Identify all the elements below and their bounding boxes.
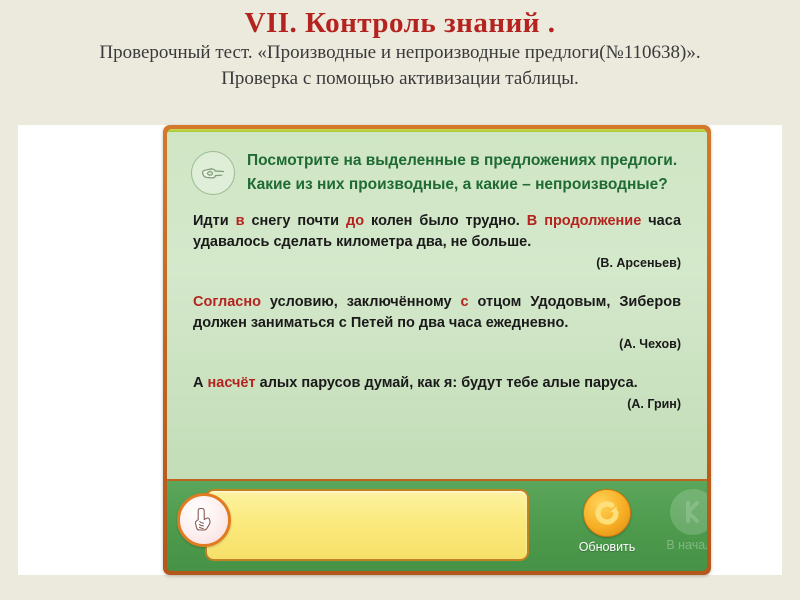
sentence-list: Идти в снегу почти до колен было трудно.… — [187, 197, 687, 411]
page-heading: VII. Контроль знаний . Проверочный тест.… — [0, 0, 800, 92]
sentence-block: А насчёт алых парусов думай, как я: буду… — [193, 373, 681, 411]
slide-card: Посмотрите на выделенные в предложениях … — [18, 125, 782, 575]
instruction-line-1: Посмотрите на выделенные в предложениях … — [247, 149, 677, 173]
sentence-run: Идти — [193, 213, 236, 229]
sentence-text: Идти в снегу почти до колен было трудно.… — [193, 211, 681, 253]
sentence-run: колен было трудно. — [364, 213, 527, 229]
sentence-block: Идти в снегу почти до колен было трудно.… — [193, 211, 681, 270]
pointing-hand-icon — [191, 151, 235, 195]
page-title: VII. Контроль знаний . — [0, 6, 800, 40]
sentence-block: Согласно условию, заключённому с отцом У… — [193, 292, 681, 351]
highlighted-preposition: до — [346, 213, 364, 229]
pointing-up-hand-icon[interactable] — [177, 493, 231, 547]
refresh-button[interactable]: Обновить — [559, 489, 655, 554]
instruction-line-2: Какие из них производные, а какие – непр… — [247, 173, 677, 197]
sentence-run: снегу почти — [245, 213, 347, 229]
sentence-author: (А. Чехов) — [193, 337, 681, 351]
exercise-frame-inner: Посмотрите на выделенные в предложениях … — [167, 129, 707, 571]
highlighted-preposition: В продолжение — [527, 213, 642, 229]
highlighted-preposition: с — [460, 294, 468, 310]
refresh-arrow-icon — [583, 489, 631, 537]
instruction-text: Посмотрите на выделенные в предложениях … — [247, 149, 677, 197]
highlighted-preposition: в — [236, 213, 245, 229]
sentence-text: Согласно условию, заключённому с отцом У… — [193, 292, 681, 334]
sentence-run: алых парусов думай, как я: будут тебе ал… — [256, 375, 638, 391]
instruction-row: Посмотрите на выделенные в предложениях … — [187, 143, 687, 197]
back-button-label: В начало — [645, 538, 707, 552]
highlighted-preposition: Согласно — [193, 294, 261, 310]
highlighted-preposition: насчёт — [208, 375, 256, 391]
page-subtitle-line2: Проверка с помощью активизации таблицы. — [0, 66, 800, 92]
exercise-frame: Посмотрите на выделенные в предложениях … — [163, 125, 711, 575]
sentence-author: (А. Грин) — [193, 397, 681, 411]
back-arrow-icon — [670, 489, 707, 535]
sentence-author: (В. Арсеньев) — [193, 256, 681, 270]
content-panel: Посмотрите на выделенные в предложениях … — [167, 129, 707, 481]
sentence-run: условию, заключённому — [261, 294, 461, 310]
answer-input[interactable] — [205, 489, 529, 561]
back-button[interactable]: В начало — [645, 489, 707, 552]
refresh-button-label: Обновить — [559, 540, 655, 554]
sentence-run: А — [193, 375, 208, 391]
exercise-footer: Обновить В начало — [167, 481, 707, 571]
sentence-text: А насчёт алых парусов думай, как я: буду… — [193, 373, 681, 394]
page-subtitle-line1: Проверочный тест. «Производные и непроиз… — [0, 40, 800, 66]
